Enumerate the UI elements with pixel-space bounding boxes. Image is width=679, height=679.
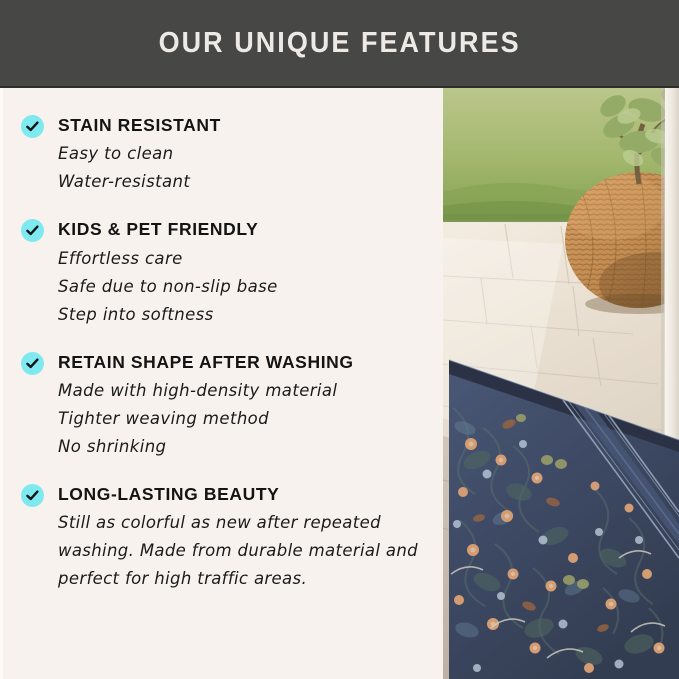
feature-heading: STAIN RESISTANT [58, 112, 433, 138]
feature-detail: Still as colorful as new after repeated … [58, 509, 433, 593]
feature-detail: Easy to clean [58, 140, 433, 168]
feature-detail: Water-resistant [58, 168, 433, 196]
product-photo-illustration [443, 88, 679, 679]
feature-detail: Tighter weaving method [58, 405, 433, 433]
check-circle-icon [21, 352, 44, 375]
feature-detail: No shrinking [58, 433, 433, 461]
page-title: OUR UNIQUE FEATURES [158, 27, 520, 60]
feature-heading: RETAIN SHAPE AFTER WASHING [58, 349, 433, 375]
header-banner: OUR UNIQUE FEATURES [0, 0, 679, 88]
feature-item-stain-resistant: STAIN RESISTANT Easy to clean Water-resi… [21, 112, 433, 196]
feature-detail-list: Easy to clean Water-resistant [58, 140, 433, 196]
feature-detail: Effortless care [58, 245, 433, 273]
feature-infographic: OUR UNIQUE FEATURES STAIN RESISTANT Easy… [0, 0, 679, 679]
feature-heading: KIDS & PET FRIENDLY [58, 216, 433, 242]
feature-item-retain-shape: RETAIN SHAPE AFTER WASHING Made with hig… [21, 349, 433, 461]
feature-detail: Safe due to non-slip base [58, 273, 433, 301]
feature-item-long-lasting-beauty: LONG-LASTING BEAUTY Still as colorful as… [21, 481, 433, 593]
feature-detail: Made with high-density material [58, 377, 433, 405]
feature-item-kids-pet-friendly: KIDS & PET FRIENDLY Effortless care Safe… [21, 216, 433, 328]
feature-heading: LONG-LASTING BEAUTY [58, 481, 433, 507]
feature-detail: Step into softness [58, 301, 433, 329]
check-circle-icon [21, 484, 44, 507]
check-circle-icon [21, 115, 44, 138]
feature-detail-list: Made with high-density material Tighter … [58, 377, 433, 461]
product-photo [443, 88, 679, 679]
check-circle-icon [21, 219, 44, 242]
feature-detail-list: Effortless care Safe due to non-slip bas… [58, 245, 433, 329]
features-list: STAIN RESISTANT Easy to clean Water-resi… [0, 88, 443, 679]
